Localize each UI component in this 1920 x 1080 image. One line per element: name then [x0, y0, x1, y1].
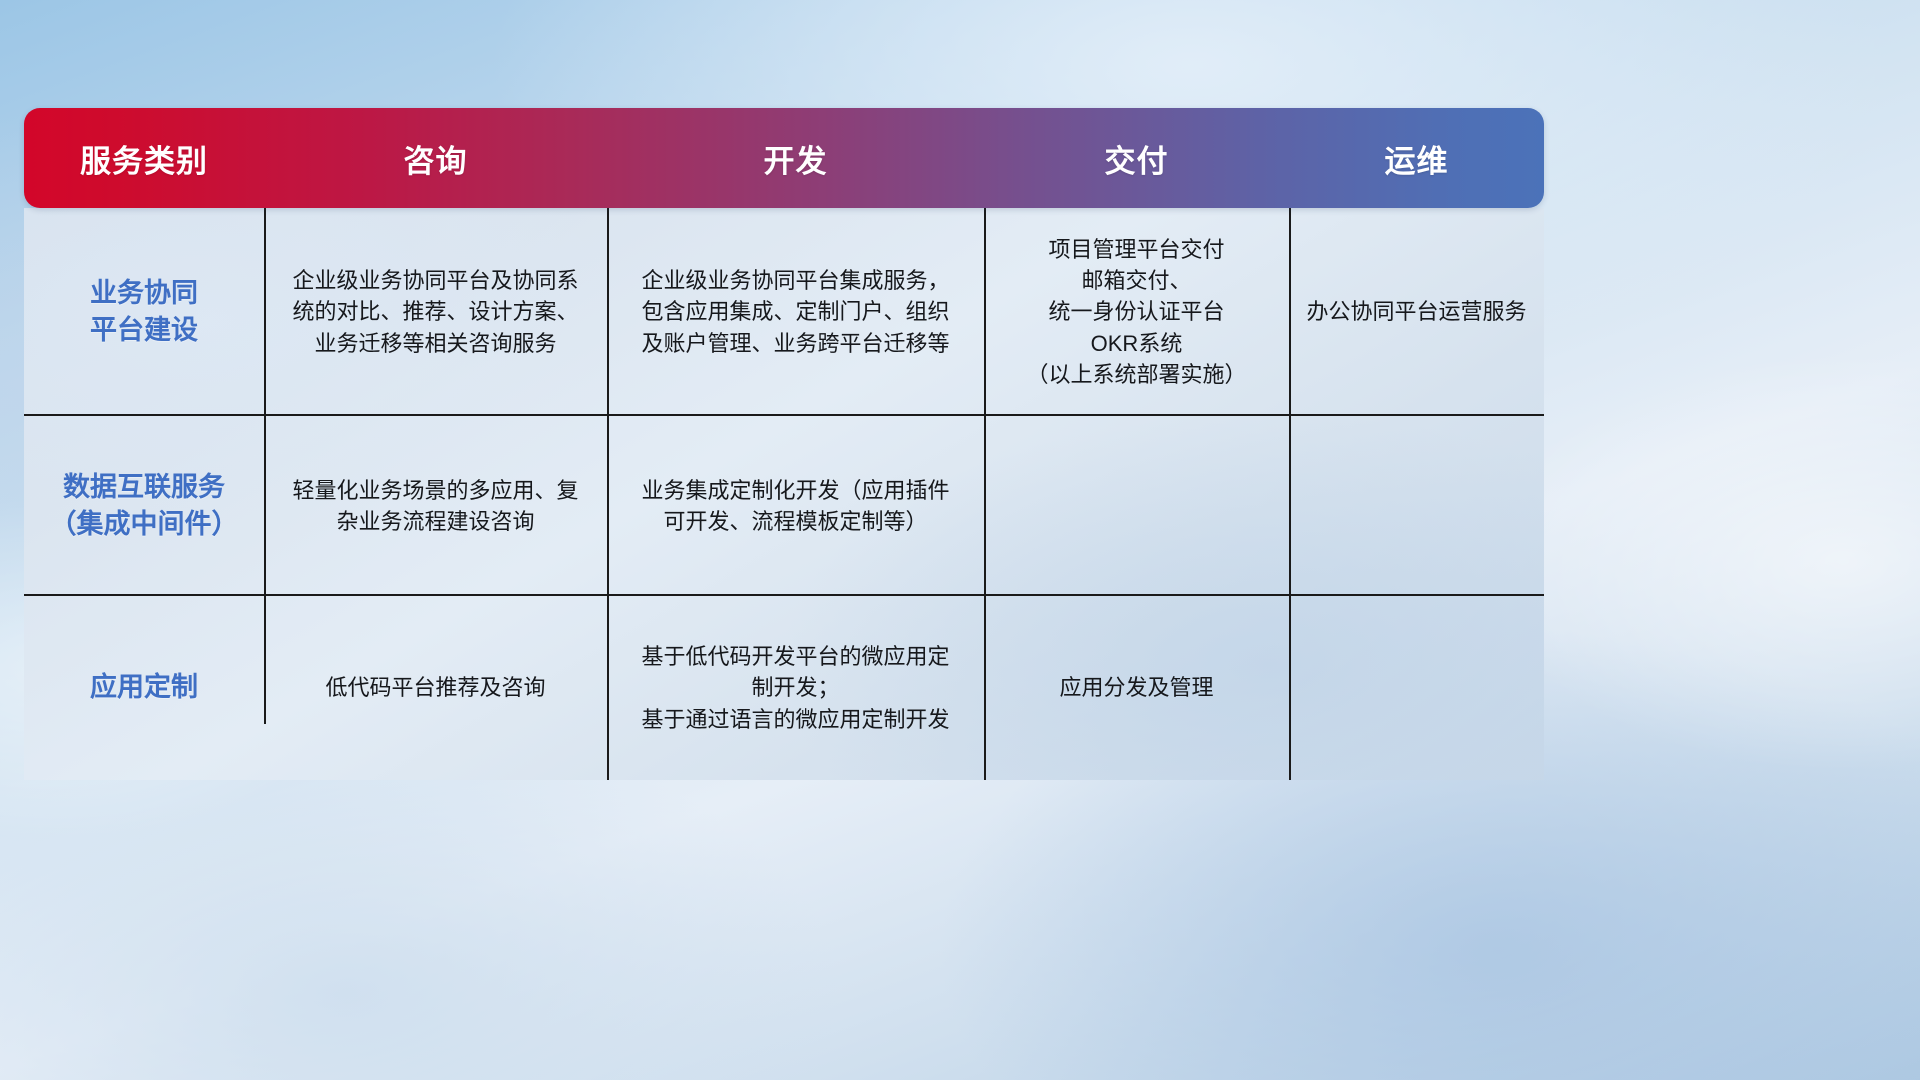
header-cell-consulting: 咨询 [264, 136, 607, 181]
cell-development: 基于低代码开发平台的微应用定 制开发； 基于通过语言的微应用定制开发 [607, 596, 984, 780]
table-row: 应用定制 低代码平台推荐及咨询 基于低代码开发平台的微应用定 制开发； 基于通过… [24, 596, 1544, 780]
cell-operations [1289, 416, 1544, 596]
cell-development: 企业级业务协同平台集成服务， 包含应用集成、定制门户、组织 及账户管理、业务跨平… [607, 208, 984, 416]
header-cell-service-category: 服务类别 [24, 136, 264, 181]
cell-delivery [984, 416, 1289, 596]
cell-consulting: 低代码平台推荐及咨询 [264, 596, 607, 780]
cell-operations [1289, 596, 1544, 780]
header-cell-delivery: 交付 [984, 136, 1289, 181]
header-cell-operations: 运维 [1289, 136, 1544, 181]
cell-consulting: 企业级业务协同平台及协同系 统的对比、推荐、设计方案、 业务迁移等相关咨询服务 [264, 208, 607, 416]
service-matrix-table: 服务类别 咨询 开发 交付 运维 业务协同 平台建设 企业级业 [24, 108, 1544, 780]
header-cell-development: 开发 [607, 136, 984, 181]
row-label-cell: 应用定制 [24, 596, 264, 780]
table-body: 业务协同 平台建设 企业级业务协同平台及协同系 统的对比、推荐、设计方案、 业务… [24, 208, 1544, 780]
cell-delivery: 项目管理平台交付 邮箱交付、 统一身份认证平台 OKR系统 （以上系统部署实施） [984, 208, 1289, 416]
table-row: 数据互联服务 （集成中间件） 轻量化业务场景的多应用、复 杂业务流程建设咨询 业… [24, 416, 1544, 596]
table-header-row: 服务类别 咨询 开发 交付 运维 [24, 108, 1544, 208]
row-label-cell: 业务协同 平台建设 [24, 208, 264, 416]
cell-development: 业务集成定制化开发（应用插件 可开发、流程模板定制等） [607, 416, 984, 596]
row-label-cell: 数据互联服务 （集成中间件） [24, 416, 264, 596]
cell-consulting: 轻量化业务场景的多应用、复 杂业务流程建设咨询 [264, 416, 607, 596]
cell-delivery: 应用分发及管理 [984, 596, 1289, 780]
cell-operations: 办公协同平台运营服务 [1289, 208, 1544, 416]
table-row: 业务协同 平台建设 企业级业务协同平台及协同系 统的对比、推荐、设计方案、 业务… [24, 208, 1544, 416]
